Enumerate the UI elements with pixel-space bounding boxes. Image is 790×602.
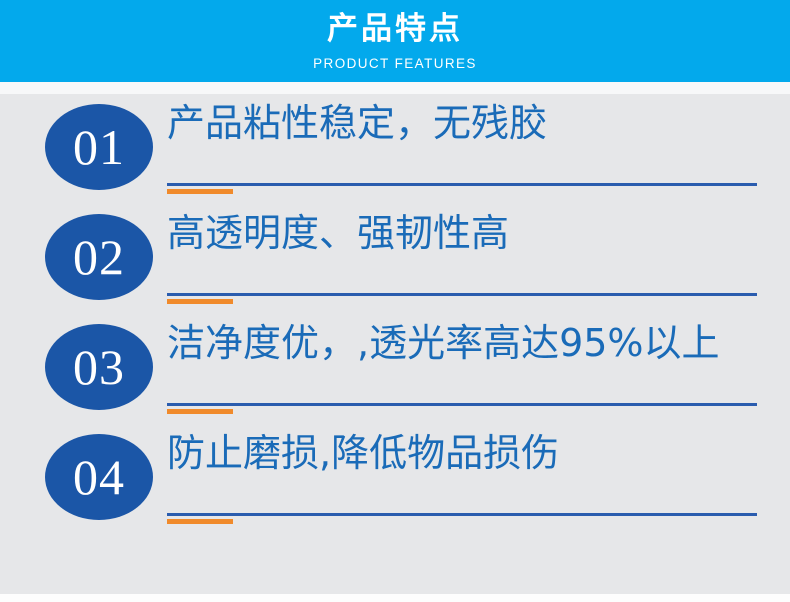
feature-item: 02 高透明度、强韧性高	[0, 204, 790, 314]
feature-content: 产品粘性稳定，无残胶	[167, 102, 757, 146]
feature-underline-orange-accent	[167, 189, 233, 194]
feature-number-badge: 02	[45, 214, 153, 300]
feature-number-label: 03	[73, 342, 125, 392]
feature-content: 高透明度、强韧性高	[167, 212, 757, 256]
feature-underline-orange-accent	[167, 409, 233, 414]
feature-number-badge: 04	[45, 434, 153, 520]
feature-underline-blue	[167, 293, 757, 296]
feature-number-label: 01	[73, 122, 125, 172]
feature-text-label: 洁净度优，,透光率高达95%以上	[167, 322, 757, 366]
feature-item: 01 产品粘性稳定，无残胶	[0, 94, 790, 204]
feature-number-badge: 01	[45, 104, 153, 190]
feature-list: 01 产品粘性稳定，无残胶 02 高透明度、强韧性高 03 洁净	[0, 94, 790, 534]
feature-content: 洁净度优，,透光率高达95%以上	[167, 322, 757, 366]
page-title: 产品特点	[0, 0, 790, 45]
header-divider-strip	[0, 82, 790, 94]
feature-underline-blue	[167, 403, 757, 406]
page-subtitle: PRODUCT FEATURES	[0, 45, 790, 71]
feature-number-badge: 03	[45, 324, 153, 410]
feature-underline-orange-accent	[167, 299, 233, 304]
feature-number-label: 02	[73, 232, 125, 282]
feature-content: 防止磨损,降低物品损伤	[167, 432, 757, 476]
feature-item: 03 洁净度优，,透光率高达95%以上	[0, 314, 790, 424]
feature-number-label: 04	[73, 452, 125, 502]
feature-text-label: 防止磨损,降低物品损伤	[167, 432, 757, 476]
page-header-banner: 产品特点 PRODUCT FEATURES	[0, 0, 790, 82]
feature-underline-blue	[167, 513, 757, 516]
feature-item: 04 防止磨损,降低物品损伤	[0, 424, 790, 534]
feature-text-label: 产品粘性稳定，无残胶	[167, 102, 757, 146]
product-features-page: 产品特点 PRODUCT FEATURES 01 产品粘性稳定，无残胶 02 高…	[0, 0, 790, 602]
feature-underline-blue	[167, 183, 757, 186]
feature-underline-orange-accent	[167, 519, 233, 524]
feature-text-label: 高透明度、强韧性高	[167, 212, 757, 256]
page-bottom-strip	[0, 594, 790, 602]
